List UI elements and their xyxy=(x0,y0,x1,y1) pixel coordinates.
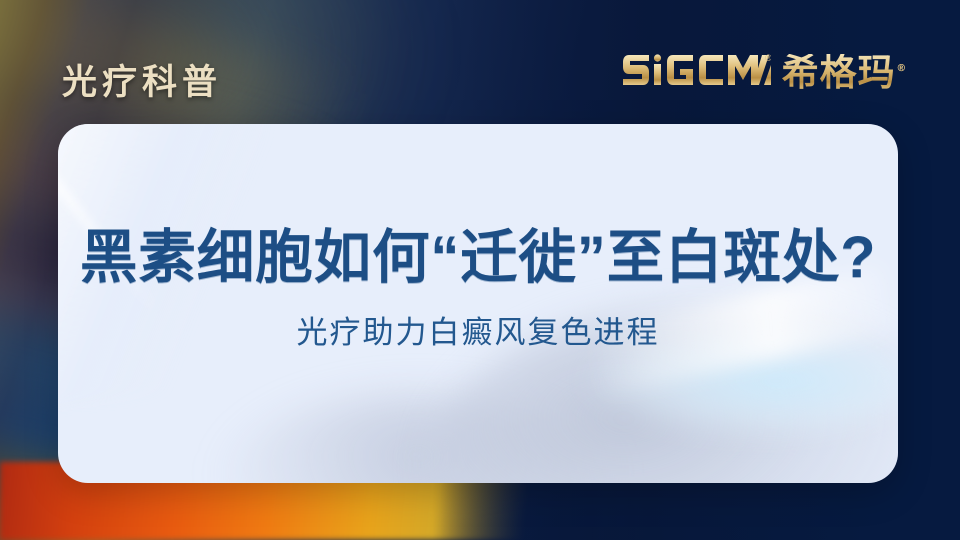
card-text-block: 黑素细胞如何“迁徙”至白斑处? 光疗助力白癜风复色进程 xyxy=(58,124,898,483)
registered-mark: ® xyxy=(898,63,906,74)
svg-text:®: ® xyxy=(765,53,771,63)
page-subtitle: 光疗助力白癜风复色进程 xyxy=(297,317,660,348)
sigma-wordmark-icon: ® xyxy=(623,51,771,93)
brand-chinese-name: 希格玛® xyxy=(782,54,906,91)
page-title: 黑素细胞如何“迁徙”至白斑处? xyxy=(80,229,876,287)
brand-logo: ® 希格玛® xyxy=(623,51,906,93)
slide-canvas: 光疗科普 xyxy=(0,0,960,540)
page-kicker: 光疗科普 xyxy=(62,54,222,105)
title-card: 黑素细胞如何“迁徙”至白斑处? 光疗助力白癜风复色进程 xyxy=(58,124,898,483)
